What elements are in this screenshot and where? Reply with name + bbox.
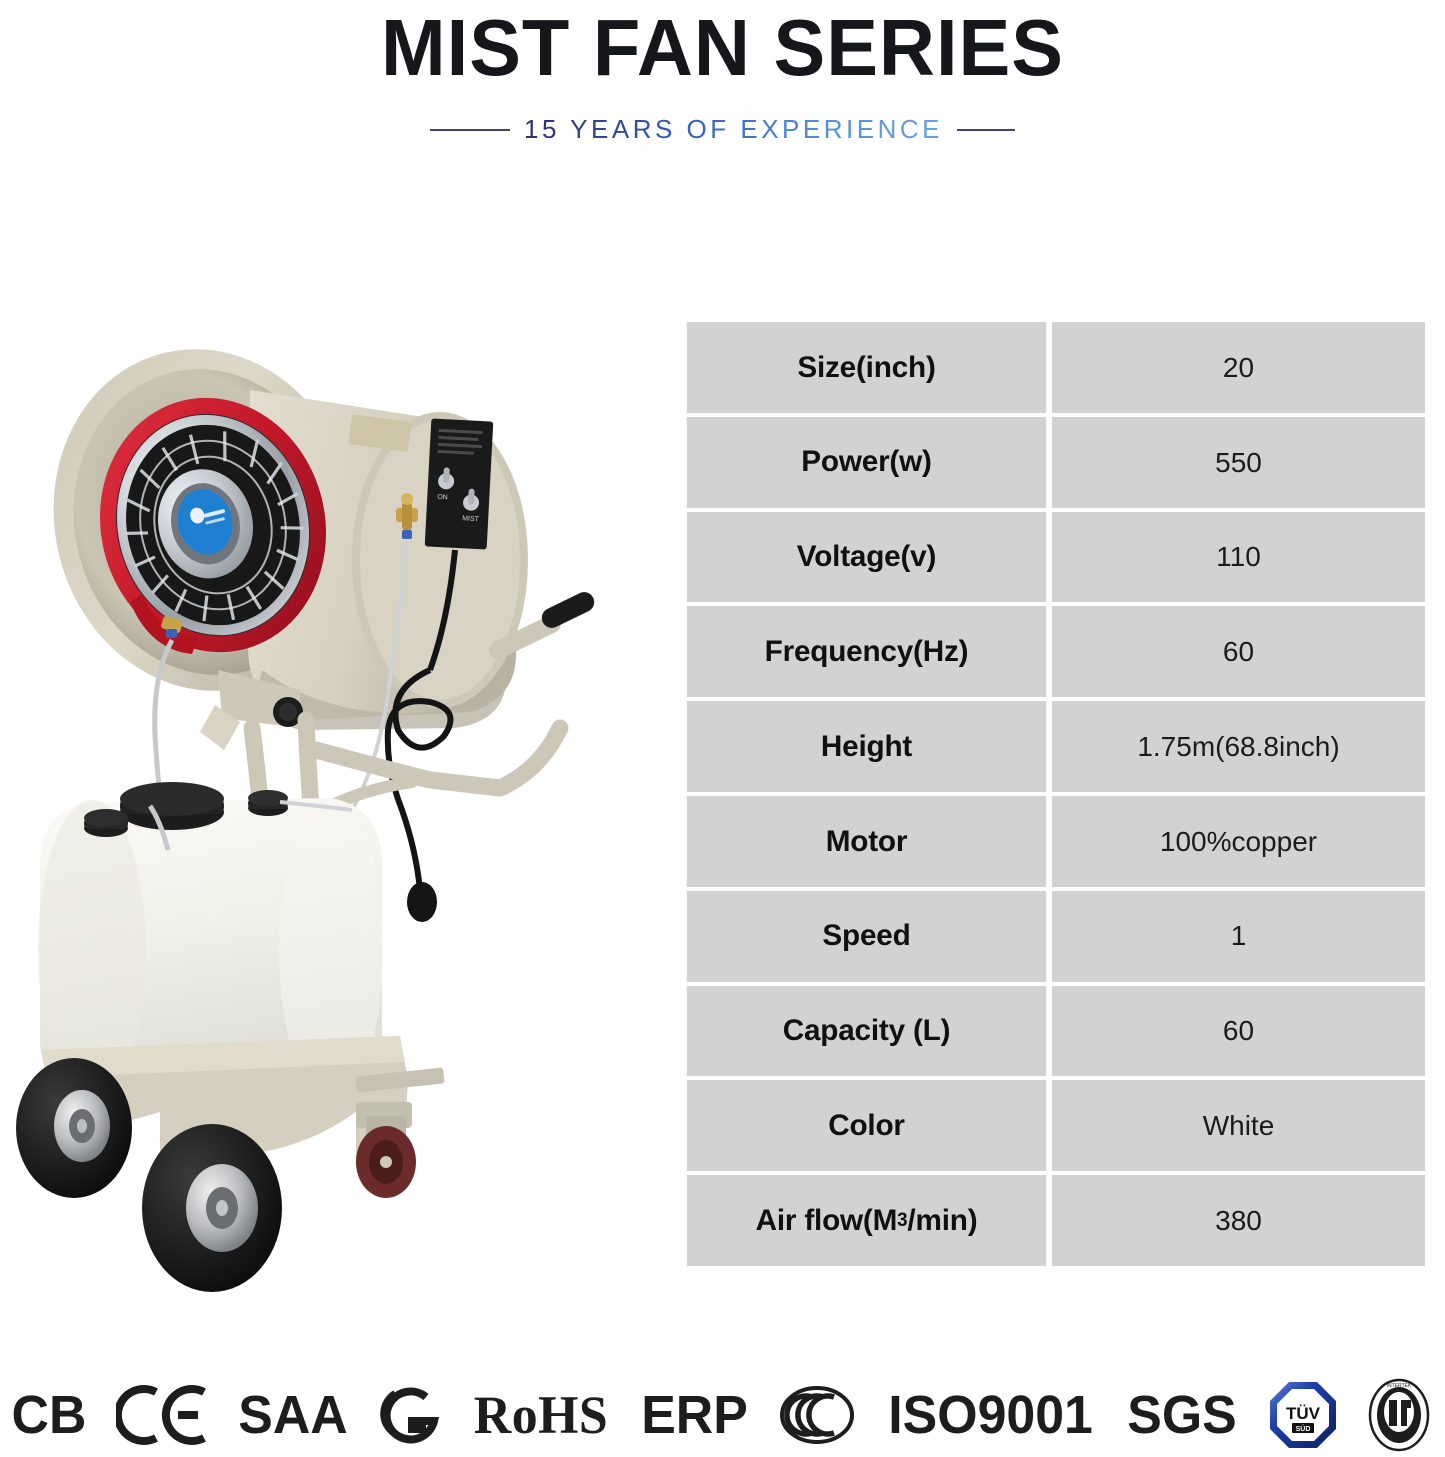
caster-wheel: [356, 1102, 416, 1198]
saa-icon: SAA: [236, 1384, 350, 1446]
erp-label: ERP: [642, 1384, 749, 1446]
table-row: Frequency(Hz) 60: [685, 606, 1425, 697]
subtitle-rule-left: [430, 129, 510, 131]
control-panel: ON MIST: [425, 418, 494, 549]
spec-value-capacity: 60: [1052, 986, 1425, 1077]
gs-mark-glyph: [378, 1383, 444, 1447]
saa-label: SAA: [238, 1384, 347, 1446]
svg-text:INTERTEK: INTERTEK: [1387, 1383, 1412, 1389]
spec-label-voltage: Voltage(v): [687, 512, 1046, 603]
handle-grip: [538, 589, 597, 632]
spec-label-motor: Motor: [687, 796, 1046, 887]
gs-icon: [378, 1383, 444, 1447]
spec-value-airflow: 380: [1052, 1175, 1425, 1266]
table-row: Power(w) 550: [685, 417, 1425, 508]
cb-label: CB: [12, 1384, 87, 1446]
spec-value-power: 550: [1052, 417, 1425, 508]
table-row: Height 1.75m(68.8inch): [685, 701, 1425, 792]
spec-value-voltage: 110: [1052, 512, 1425, 603]
wheel-rear-left: [16, 1058, 132, 1198]
header: MIST FAN SERIES 15 YEARS OF EXPERIENCE: [0, 0, 1445, 190]
spec-label-color: Color: [687, 1080, 1046, 1171]
etl-icon: INTERTEK: [1367, 1378, 1431, 1452]
table-row: Capacity (L) 60: [685, 986, 1425, 1077]
table-row: Air flow(M3/min) 380: [685, 1175, 1425, 1266]
product-image: ON MIST: [0, 250, 660, 1310]
table-row: Speed 1: [685, 891, 1425, 982]
wheel-front-left: [142, 1124, 282, 1292]
sgs-label: SGS: [1127, 1384, 1236, 1446]
spec-label-capacity: Capacity (L): [687, 986, 1046, 1077]
airflow-label-pre: Air flow(M: [756, 1205, 898, 1237]
spec-value-color: White: [1052, 1080, 1425, 1171]
spec-label-frequency: Frequency(Hz): [687, 606, 1046, 697]
tuv-sud-mark-glyph: TÜV SÜD: [1267, 1379, 1339, 1451]
table-row: Size(inch) 20: [685, 322, 1425, 413]
spec-label-airflow: Air flow(M3/min): [687, 1175, 1046, 1266]
svg-text:MIST: MIST: [462, 515, 480, 523]
specification-table: Size(inch) 20 Power(w) 550 Voltage(v) 11…: [685, 322, 1425, 1266]
subtitle-rule-right: [957, 129, 1015, 131]
ce-mark-glyph: [116, 1384, 208, 1446]
ce-icon: [116, 1384, 208, 1446]
product-infographic-page: MIST FAN SERIES 15 YEARS OF EXPERIENCE: [0, 0, 1445, 1457]
spec-label-size: Size(inch): [687, 322, 1046, 413]
ccc-icon: [778, 1384, 856, 1446]
subtitle-text: 15 YEARS OF EXPERIENCE: [524, 114, 943, 145]
svg-text:ON: ON: [437, 494, 448, 502]
page-title: MIST FAN SERIES: [22, 0, 1424, 94]
spec-value-size: 20: [1052, 322, 1425, 413]
table-row: Color White: [685, 1080, 1425, 1171]
rohs-label: RoHS: [474, 1384, 608, 1446]
subtitle-row: 15 YEARS OF EXPERIENCE: [0, 114, 1445, 145]
ccc-mark-glyph: [778, 1384, 856, 1446]
iso9001-label: ISO9001: [888, 1384, 1093, 1446]
certification-strip: CB SAA RoHS ERP: [0, 1376, 1445, 1454]
etl-mark-glyph: INTERTEK: [1367, 1378, 1431, 1452]
cb-icon: CB: [10, 1384, 88, 1446]
spec-label-height: Height: [687, 701, 1046, 792]
spec-label-speed: Speed: [687, 891, 1046, 982]
airflow-label-post: /min): [907, 1205, 977, 1237]
svg-text:SÜD: SÜD: [1296, 1424, 1311, 1433]
svg-text:TÜV: TÜV: [1286, 1404, 1321, 1423]
spec-value-frequency: 60: [1052, 606, 1425, 697]
spec-value-motor: 100%copper: [1052, 796, 1425, 887]
table-row: Voltage(v) 110: [685, 512, 1425, 603]
spec-value-height: 1.75m(68.8inch): [1052, 701, 1425, 792]
rohs-icon: RoHS: [471, 1384, 611, 1446]
erp-icon: ERP: [639, 1384, 750, 1446]
table-row: Motor 100%copper: [685, 796, 1425, 887]
mist-fan-illustration: ON MIST: [0, 250, 660, 1310]
spec-label-power: Power(w): [687, 417, 1046, 508]
tuv-sud-icon: TÜV SÜD: [1267, 1379, 1339, 1451]
iso9001-icon: ISO9001: [884, 1384, 1097, 1446]
sgs-icon: SGS: [1125, 1384, 1239, 1446]
spec-value-speed: 1: [1052, 891, 1425, 982]
power-plug: [407, 882, 437, 922]
